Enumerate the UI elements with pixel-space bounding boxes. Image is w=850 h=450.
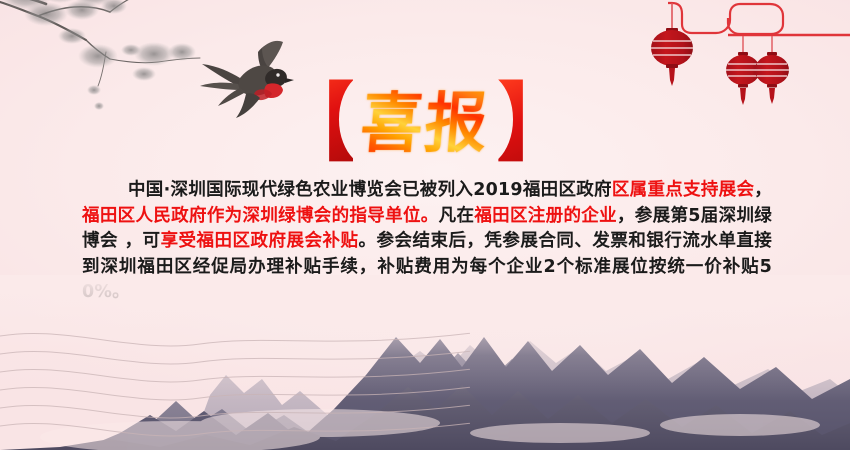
swallow-body xyxy=(200,41,294,118)
poster-title: 【 喜报 】 xyxy=(0,84,850,162)
mountains-front-layer xyxy=(0,385,850,450)
lantern-group-decoration xyxy=(620,0,850,115)
body-segment: 凡在 xyxy=(439,206,475,226)
mountain-mist xyxy=(40,409,820,450)
body-segment: 享受福田区政府展会补贴 xyxy=(161,231,359,251)
wave-lines-decoration xyxy=(0,310,470,450)
body-segment: ， xyxy=(754,180,772,200)
branch-stems xyxy=(0,0,200,86)
mountains-far-layer xyxy=(190,341,850,450)
mountains-mid-layer xyxy=(120,353,850,450)
lantern-item xyxy=(755,36,789,104)
body-segment: 区属重点支持展会 xyxy=(612,180,754,200)
lantern-item xyxy=(726,36,760,105)
title-bracket-right: 】 xyxy=(497,79,569,166)
branch-blossom-clusters xyxy=(0,0,196,110)
mountains-near-layer xyxy=(80,337,850,450)
swallow-icon xyxy=(188,38,323,123)
title-text: 喜报 xyxy=(352,90,498,156)
poster-canvas: 【 喜报 】 中国·深圳国际现代绿色农业博览会已被列入2019福田区政府区属重点… xyxy=(0,0,850,450)
body-segment: 福田区注册的企业 xyxy=(474,206,617,226)
ink-branch-decoration xyxy=(0,0,216,132)
body-segment: 福田区人民政府作为深圳绿博会的指导单位。 xyxy=(82,206,439,226)
lantern-wire xyxy=(668,3,850,35)
title-bracket-left: 【 xyxy=(281,79,353,166)
lantern-item xyxy=(651,3,693,86)
body-segment: 中国·深圳国际现代绿色农业博览会已被列入2019福田区政府 xyxy=(128,180,612,200)
announcement-body: 中国·深圳国际现代绿色农业博览会已被列入2019福田区政府区属重点支持展会，福田… xyxy=(82,178,772,306)
